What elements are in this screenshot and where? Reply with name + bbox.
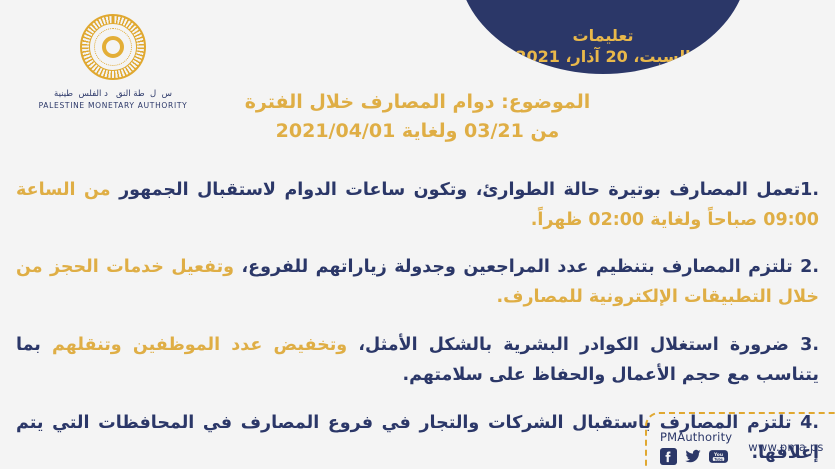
footer-contact: PMAuthority You Tube www.pma.ps xyxy=(660,420,835,469)
website-url[interactable]: www.pma.ps xyxy=(748,440,823,454)
seal-ring-decoration xyxy=(94,28,132,66)
youtube-icon[interactable]: You Tube xyxy=(709,448,728,465)
header-badge-title: تعليمات xyxy=(458,25,748,47)
instruction-item-2: .2 تلتزم المصارف بتنظيم عدد المراجعين وج… xyxy=(16,252,819,312)
social-icons: You Tube xyxy=(660,448,732,465)
subject-line-2: من 03/21 ولغاية 2021/04/01 xyxy=(0,117,835,146)
facebook-icon[interactable] xyxy=(660,448,677,465)
subject-heading: الموضوع: دوام المصارف خلال الفترة من 03/… xyxy=(0,88,835,145)
header-badge-text: تعليمات السبت، 20 آذار، 2021 xyxy=(458,25,748,74)
instruction-2-navy: .2 تلتزم المصارف بتنظيم عدد المراجعين وج… xyxy=(234,257,819,277)
header-badge-date: السبت، 20 آذار، 2021 xyxy=(458,46,748,68)
social-column: PMAuthority You Tube xyxy=(660,430,732,465)
subject-line-1: الموضوع: دوام المصارف خلال الفترة xyxy=(0,88,835,117)
instruction-3-navy: .3 ضرورة استغلال الكوادر البشرية بالشكل … xyxy=(347,335,819,355)
announcement-canvas: تعليمات السبت، 20 آذار، 2021 س ل طة النق… xyxy=(0,0,835,469)
instruction-3-gold: وتخفيض عدد الموظفين وتنقلهم xyxy=(41,335,347,355)
header-badge: تعليمات السبت، 20 آذار، 2021 xyxy=(458,0,748,74)
pma-seal-icon xyxy=(80,14,146,80)
instruction-1-navy: .1تعمل المصارف بوتيرة حالة الطوارئ، وتكو… xyxy=(111,180,819,200)
social-handle: PMAuthority xyxy=(660,430,732,444)
instruction-item-3: .3 ضرورة استغلال الكوادر البشرية بالشكل … xyxy=(16,330,819,390)
svg-text:Tube: Tube xyxy=(714,457,722,461)
instruction-item-1: .1تعمل المصارف بوتيرة حالة الطوارئ، وتكو… xyxy=(16,175,819,235)
twitter-icon[interactable] xyxy=(684,448,702,465)
